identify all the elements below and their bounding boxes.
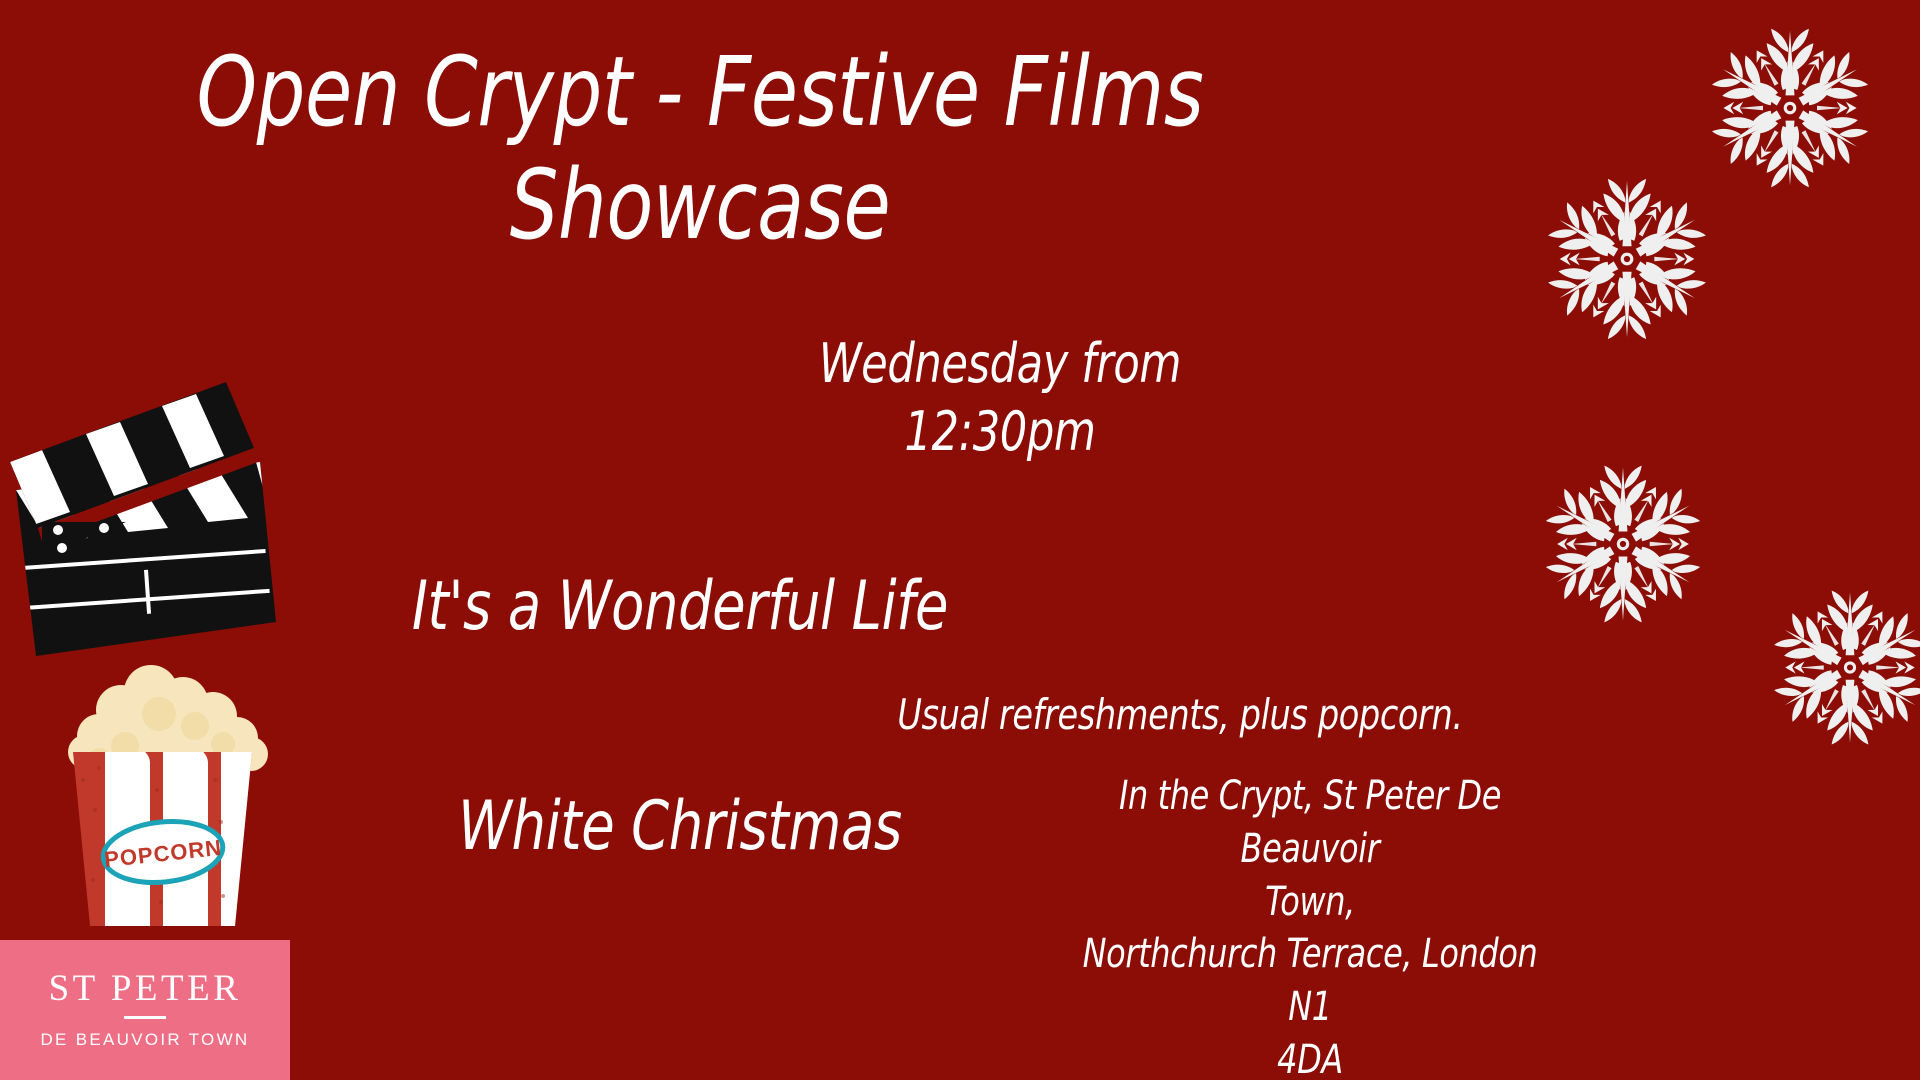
event-datetime: Wednesday from 12:30pm	[760, 330, 1240, 465]
logo-divider	[124, 1016, 166, 1019]
page-title: Open Crypt - Festive Films Showcase	[140, 36, 1260, 263]
clapperboard-icon	[8, 370, 298, 670]
logo-primary-text: ST PETER	[49, 970, 242, 1007]
st-peter-logo: ST PETER DE BEAUVOIR TOWN	[0, 940, 290, 1080]
venue-address: In the Crypt, St Peter De Beauvoir Town,…	[1062, 770, 1558, 1080]
poster-canvas: POPCORN Open Crypt - Festive Films Showc…	[0, 0, 1920, 1080]
snowflake-icon-2	[1528, 168, 1726, 350]
snowflake-icon-1	[1700, 18, 1880, 198]
popcorn-icon: POPCORN	[55, 640, 270, 930]
snowflake-icon-3	[1528, 455, 1718, 633]
film-title-1: It's a Wonderful Life	[280, 570, 1080, 645]
film-title-2: White Christmas	[280, 790, 1080, 865]
refreshments-note: Usual refreshments, plus popcorn.	[876, 690, 1484, 740]
snowflake-icon-4	[1760, 580, 1920, 755]
logo-secondary-text: DE BEAUVOIR TOWN	[40, 1030, 249, 1050]
